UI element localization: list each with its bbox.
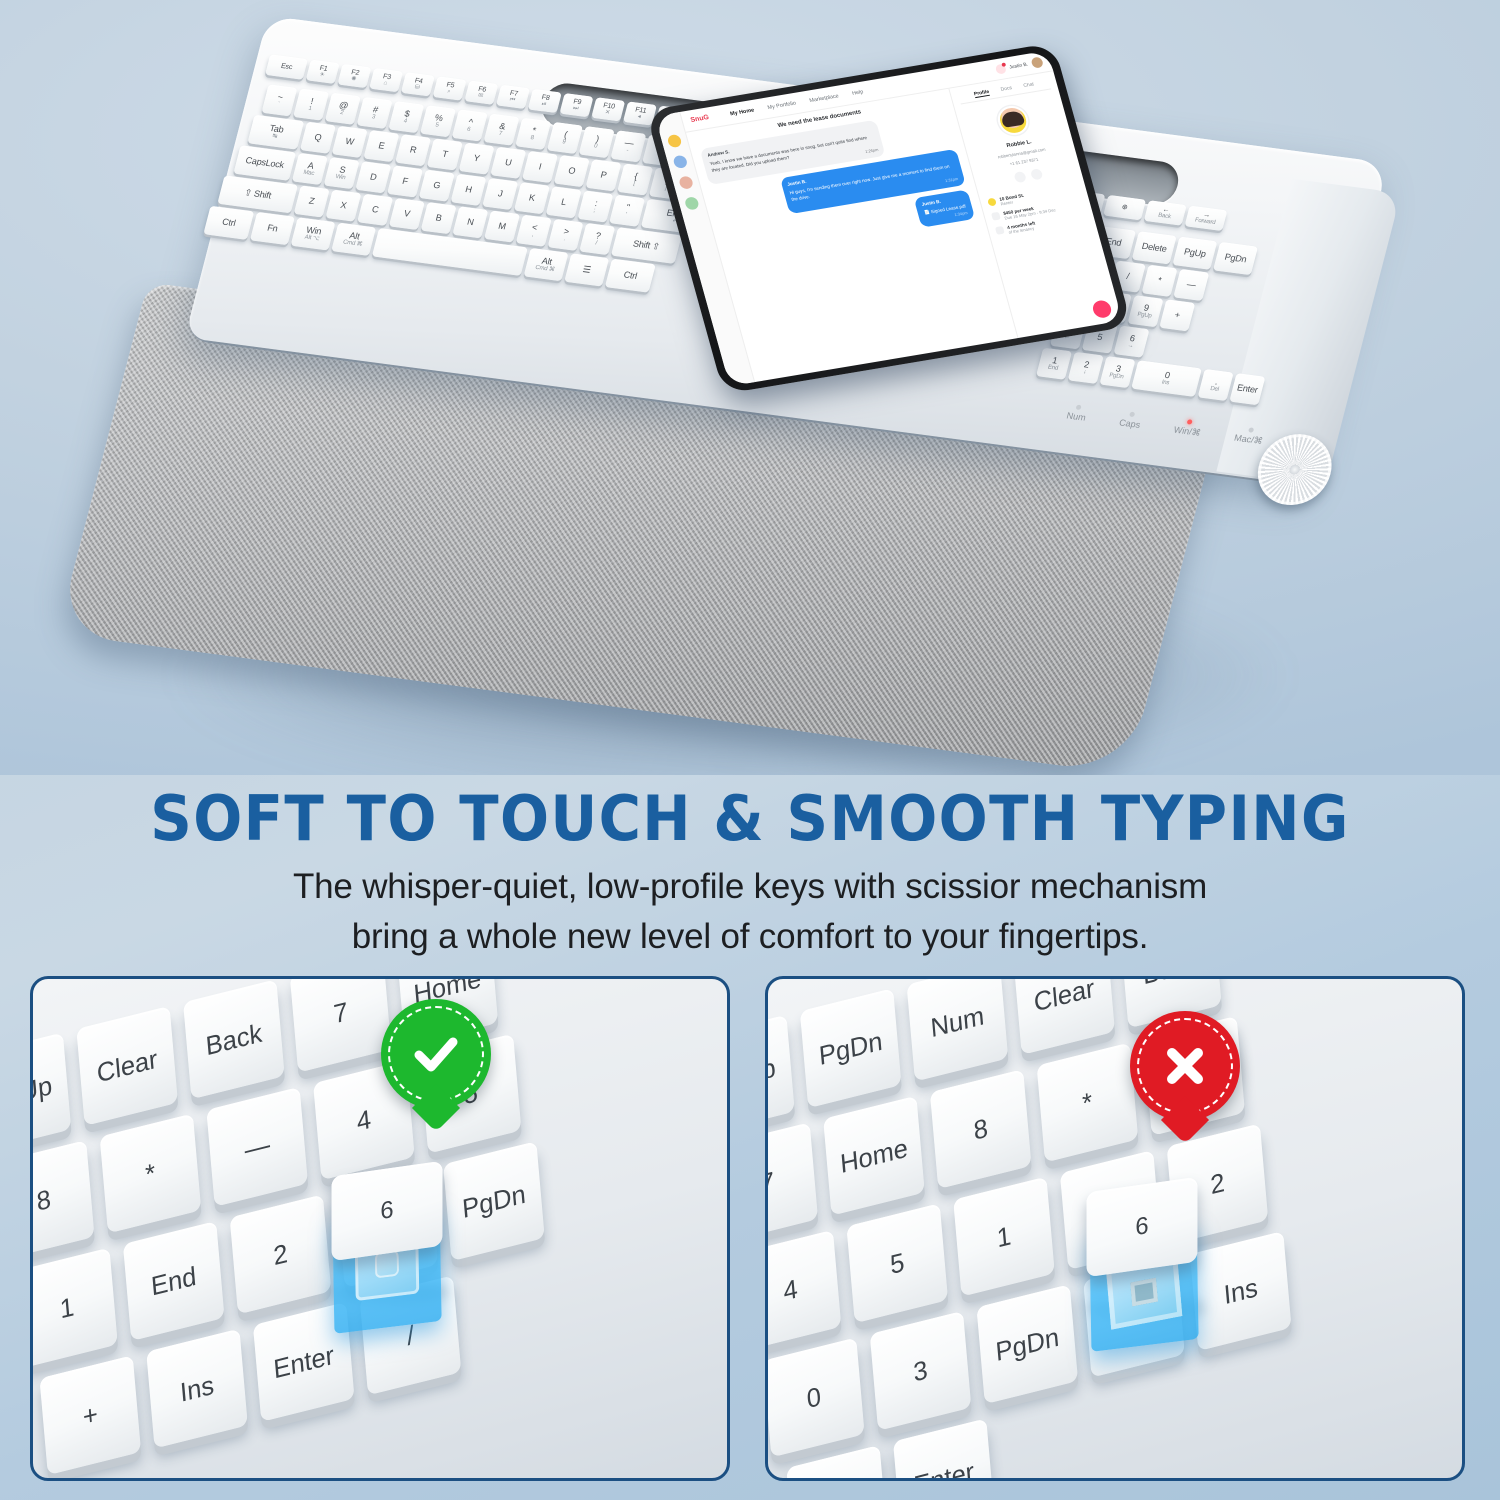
key-label: PgDn: [1224, 253, 1248, 265]
key-label: P: [599, 170, 607, 180]
key-sublabel: 7: [498, 131, 503, 138]
key-tab[interactable]: Tab↹: [247, 115, 304, 150]
key-sublabel: [: [632, 181, 635, 187]
closeup-key: Ins: [146, 1329, 248, 1449]
key-sublabel: Cmd ⌘: [534, 265, 555, 274]
key-label: X: [339, 201, 347, 211]
key-sublabel: →: [1127, 343, 1134, 350]
key-n[interactable]: N: [452, 206, 488, 238]
key-label: #: [372, 105, 379, 115]
key-sublabel: 3: [371, 114, 376, 121]
key-sublabel: 2: [339, 110, 344, 117]
closeup-key: 1: [953, 1177, 1055, 1297]
key-label: ☰: [582, 265, 592, 275]
closeup-key-label: Back: [205, 1018, 264, 1061]
key-3[interactable]: 3PgDn: [1099, 356, 1135, 388]
key--[interactable]: ⊕: [1103, 195, 1146, 220]
check-icon: [407, 1025, 465, 1083]
profile-name: Robbie L.: [1006, 139, 1032, 149]
key-label: {: [633, 172, 638, 182]
key--[interactable]: %5: [420, 105, 456, 137]
key--[interactable]: #3: [357, 97, 393, 129]
key-label: —: [1186, 280, 1197, 290]
call-icon[interactable]: [1013, 171, 1027, 183]
key-sublabel: ⌕: [446, 89, 451, 96]
key-sublabel: 4: [403, 118, 408, 125]
closeup-key: 5: [846, 1203, 948, 1323]
app-user-menu[interactable]: Justin B.: [994, 56, 1044, 74]
key-f8[interactable]: F8⏯: [528, 89, 562, 113]
key-label: 1: [1051, 356, 1058, 366]
key-label: 0: [1164, 371, 1171, 381]
nav-tab-marketplace[interactable]: Marketplace: [809, 93, 840, 104]
key-f10[interactable]: F10✕: [591, 97, 625, 121]
key-sublabel: ': [625, 212, 628, 218]
key-label: Y: [472, 154, 480, 164]
key-sublabel: ⛁: [414, 85, 420, 92]
key--[interactable]: *: [1141, 265, 1177, 297]
closeup-key-label: 5: [889, 1247, 906, 1279]
key-label: Esc: [280, 63, 293, 72]
verdict-badge-cross: [1130, 1011, 1240, 1139]
key--[interactable]: "': [609, 195, 645, 227]
page-subtitle: The whisper-quiet, low-profile keys with…: [150, 862, 1350, 961]
key-a[interactable]: AMac: [292, 153, 328, 185]
key--[interactable]: !1: [293, 89, 329, 121]
key-9[interactable]: 9PgUp: [1127, 295, 1163, 327]
key--[interactable]: ←Back: [1144, 200, 1187, 225]
key-label: J: [497, 189, 504, 199]
key-ctrl[interactable]: Ctrl: [605, 259, 656, 293]
key-shift-[interactable]: Shift ⇧: [611, 227, 682, 264]
numpad-row-4: 1End2↓3PgDn0Ins.DelEnter: [1036, 348, 1265, 406]
key-pgup[interactable]: PgUp: [1172, 237, 1217, 270]
key-sublabel: Cmd ⌘: [342, 240, 363, 249]
key--[interactable]: ?/: [579, 223, 615, 255]
key--[interactable]: ☰: [564, 253, 609, 286]
key-capslock[interactable]: CapsLock: [233, 145, 296, 181]
comparison-panel-bad: PgUpPgDnNumClearBack7Home8*—451End203PgD…: [765, 976, 1465, 1481]
verdict-badge-check: [381, 999, 491, 1127]
key-sublabel: ✕: [604, 110, 610, 117]
key-1[interactable]: 1End: [1036, 348, 1072, 380]
key-f6[interactable]: F6✉: [464, 81, 498, 105]
key-k[interactable]: K: [514, 182, 550, 214]
closeup-key-label: PgDn: [461, 1179, 527, 1224]
key-sublabel: Forward: [1194, 217, 1216, 226]
key-pgdn[interactable]: PgDn: [1213, 242, 1258, 275]
key--[interactable]: (9: [547, 122, 583, 154]
closeup-key: PgDn: [800, 988, 902, 1108]
close-icon: [1158, 1039, 1212, 1093]
phone-screen: SnuG My HomeMy PortfolioMarketplaceHelp …: [655, 50, 1123, 386]
key--[interactable]: >.: [547, 219, 583, 251]
key-ctrl[interactable]: Ctrl: [203, 206, 254, 240]
key-sublabel: .: [563, 236, 566, 242]
closeup-key-label: 1: [996, 1220, 1013, 1252]
key-sublabel: Alt ⌥: [304, 234, 320, 242]
key-label: N: [466, 217, 475, 227]
key-sublabel: /: [595, 240, 598, 246]
closeup-key-label: 4: [356, 1104, 373, 1136]
closeup-key: Home: [823, 1096, 925, 1216]
nav-tab-my-home[interactable]: My Home: [729, 107, 754, 117]
key--[interactable]: $4: [388, 101, 424, 133]
key-sublabel: Back: [1157, 213, 1171, 221]
closeup-key-label: +: [82, 1399, 99, 1432]
closeup-key-label: 2: [1209, 1167, 1226, 1199]
detail-meta: Renter: [1000, 200, 1014, 207]
closeup-key-label: Home: [839, 1133, 909, 1179]
closeup-key: PgUp: [768, 1015, 795, 1135]
key-p[interactable]: P: [585, 159, 621, 191]
key-label: PgUp: [1183, 247, 1207, 259]
key-sublabel: ⌂: [383, 80, 388, 87]
key-delete[interactable]: Delete: [1132, 231, 1177, 264]
key-label: V: [403, 209, 411, 219]
key-label: T: [441, 149, 449, 159]
key-label: Delete: [1141, 242, 1168, 254]
profile-actions: [1013, 168, 1043, 183]
key--[interactable]: )0: [579, 126, 615, 158]
closeup-key: +: [39, 1355, 141, 1475]
nav-tab-my-portfolio[interactable]: My Portfolio: [767, 100, 797, 110]
key-f3[interactable]: F3⌂: [369, 68, 403, 92]
key-label: K: [528, 193, 536, 203]
key-label: /: [1125, 272, 1130, 282]
key-label: (: [563, 130, 568, 140]
key-label: ^: [467, 118, 473, 128]
key-win[interactable]: WinAlt ⌥: [291, 217, 336, 250]
key-sublabel: 1: [308, 106, 313, 113]
avatar[interactable]: [1030, 56, 1044, 68]
key-sublabel: ⏮: [509, 97, 516, 104]
closeup-key-label: PgDn: [818, 1026, 884, 1071]
key-r[interactable]: R: [395, 134, 431, 166]
key-label: .: [1214, 377, 1219, 387]
closeup-key-label: Back: [1142, 979, 1201, 990]
key-label: E: [377, 141, 385, 151]
key-label: O: [567, 166, 576, 176]
key-y[interactable]: Y: [459, 143, 495, 175]
key-label: W: [344, 137, 355, 147]
key-sublabel: ✺: [350, 76, 356, 83]
closeup-key: 8: [33, 1140, 94, 1260]
key--[interactable]: @2: [325, 93, 361, 125]
detail-icon: [995, 226, 1005, 235]
key-fn[interactable]: Fn: [250, 212, 295, 245]
key-label: —: [624, 138, 635, 148]
key-label: Ctrl: [221, 217, 236, 228]
app-logo: SnuG: [690, 114, 710, 124]
key-label: ⇧ Shift: [243, 188, 272, 201]
profile-photo: [994, 104, 1031, 137]
key-sublabel: ⏯: [541, 101, 547, 108]
key-label: ): [595, 134, 600, 144]
key-sublabel: ☀: [318, 72, 325, 79]
key-sublabel: -: [626, 148, 629, 154]
profile-email: robbertylonna@gmail.com: [997, 147, 1046, 160]
closeup-key: PgDn: [443, 1141, 545, 1261]
rail-avatar-1[interactable]: [667, 134, 683, 148]
key-alt[interactable]: AltCmd ⌘: [524, 248, 569, 281]
key-label: Ctrl: [623, 270, 638, 281]
key--[interactable]: ~`: [261, 84, 297, 116]
key--[interactable]: .Del: [1198, 369, 1234, 401]
key-sublabel: 6: [466, 127, 471, 134]
closeup-key: 1: [33, 1248, 118, 1368]
closeup-key-label: 4: [782, 1274, 799, 1306]
detail-icon: [987, 198, 997, 207]
key-label: F: [401, 177, 409, 187]
key-f9[interactable]: F9⏭: [559, 93, 593, 117]
key-f2[interactable]: F2✺: [337, 64, 371, 88]
closeup-key: Clear: [76, 1006, 178, 1126]
key-z[interactable]: Z: [294, 185, 330, 217]
key-t[interactable]: T: [427, 138, 463, 170]
page-title: SOFT TO TOUCH & SMOOTH TYPING: [53, 782, 1448, 855]
key-e[interactable]: E: [363, 130, 399, 162]
key-label: Q: [313, 133, 322, 143]
key-label: :: [594, 199, 599, 209]
closeup-key-label: End: [150, 1261, 197, 1301]
mail-icon[interactable]: [1029, 168, 1043, 180]
key-c[interactable]: C: [357, 194, 393, 226]
key--[interactable]: →Forward: [1184, 206, 1227, 231]
key-label: G: [432, 181, 441, 191]
key-label: Fn: [266, 223, 278, 234]
closeup-key: 2: [230, 1194, 332, 1314]
closeup-key: 0: [768, 1337, 865, 1457]
key--[interactable]: :;: [577, 191, 613, 223]
closeup-key-label: 8: [972, 1113, 989, 1145]
closeup-key-label: 8: [35, 1184, 52, 1216]
key--[interactable]: *8: [515, 118, 551, 150]
key-label: ": [625, 203, 630, 213]
closeup-key-label: 3: [912, 1355, 929, 1387]
key--[interactable]: &7: [483, 114, 519, 146]
key-0[interactable]: 0Ins: [1131, 360, 1202, 397]
key-label: *: [1157, 276, 1163, 286]
closeup-key-label: *: [1081, 1087, 1093, 1118]
key-sublabel: ✉: [477, 93, 483, 100]
subtitle-line-1: The whisper-quiet, low-profile keys with…: [293, 867, 1207, 906]
closeup-key-label: Num: [929, 1000, 985, 1042]
key-f[interactable]: F: [387, 165, 423, 197]
key-sublabel: ;: [593, 208, 596, 214]
closeup-key: —: [206, 1087, 308, 1207]
key-label: Enter: [1236, 383, 1259, 395]
closeup-key-label: Ins: [179, 1370, 215, 1407]
key-label: *: [531, 126, 537, 136]
nav-tab-help[interactable]: Help: [851, 89, 864, 97]
key-label: Z: [308, 197, 316, 207]
closeup-key: End: [123, 1221, 225, 1341]
closeup-key-label: Enter: [272, 1340, 335, 1384]
key-sublabel: ↓: [1082, 369, 1086, 376]
key-i[interactable]: I: [522, 151, 558, 183]
key-sublabel: Mac: [303, 170, 315, 178]
key-sublabel: ,: [531, 232, 534, 238]
key-u[interactable]: U: [490, 147, 526, 179]
key-f7[interactable]: F7⏮: [496, 85, 530, 109]
detail-icon: [991, 212, 1001, 221]
key-2[interactable]: 2↓: [1068, 352, 1104, 384]
key--[interactable]: —-: [610, 130, 646, 162]
key-sublabel: `: [277, 102, 280, 108]
key-h[interactable]: H: [450, 174, 486, 206]
message-bubble: Justin B.📄 Signed Lease.pdf1:34pm: [914, 189, 975, 227]
key-label: L: [560, 197, 567, 207]
keycap-label: 6: [1135, 1212, 1148, 1242]
comparison-panel-good: PgUpClearBack7Home8*—451End23PgDn+InsEnt…: [30, 976, 730, 1481]
key-sublabel: PgDn: [1108, 373, 1124, 381]
closeup-key-label: PgUp: [33, 1070, 53, 1115]
app-main-column: SnuG My HomeMy PortfolioMarketplaceHelp …: [680, 50, 1122, 382]
key-o[interactable]: O: [554, 155, 590, 187]
keycap-label: 6: [380, 1196, 393, 1226]
closeup-key: 3: [870, 1311, 972, 1431]
closeup-key: *: [100, 1113, 202, 1233]
key-label: ⊕: [1121, 204, 1128, 212]
closeup-key-label: Enter: [912, 1456, 975, 1478]
key-v[interactable]: V: [389, 198, 425, 230]
key-j[interactable]: J: [482, 178, 518, 210]
key-sublabel: ⏭: [572, 105, 579, 112]
closeup-key-label: Clear: [1033, 979, 1096, 1017]
current-user-name: Justin B.: [1009, 61, 1029, 70]
key-f1[interactable]: F1☀: [306, 60, 340, 84]
floating-keycap: 6: [1087, 1177, 1198, 1277]
key-label: 5: [1096, 333, 1103, 343]
key-label: @: [338, 100, 349, 110]
subtitle-line-2: bring a whole new level of comfort to yo…: [352, 917, 1149, 956]
closeup-key-label: 1: [59, 1291, 76, 1323]
closeup-key: Enter: [893, 1418, 995, 1478]
sidebar-tab-docs[interactable]: Docs: [1000, 85, 1013, 93]
closeup-key: *: [1037, 1042, 1139, 1162]
key--[interactable]: {[: [617, 163, 653, 195]
key-sublabel: End: [1047, 365, 1059, 372]
key-label: B: [435, 213, 443, 223]
key-sublabel: PgUp: [1136, 312, 1152, 320]
key--[interactable]: <,: [516, 215, 552, 247]
key-sublabel: Win: [335, 174, 346, 181]
key-label: M: [497, 221, 507, 231]
key-q[interactable]: Q: [300, 122, 336, 154]
key-label: H: [464, 185, 473, 195]
key-g[interactable]: G: [419, 170, 455, 202]
key-label: C: [371, 205, 380, 215]
closeup-key: Clear: [1013, 979, 1115, 1055]
key-s[interactable]: SWin: [324, 157, 360, 189]
sidebar-tab-chat[interactable]: Chat: [1023, 82, 1035, 90]
closeup-key: Num: [907, 979, 1009, 1082]
key-6[interactable]: 6→: [1113, 326, 1149, 358]
closeup-key: Ins: [1190, 1231, 1292, 1351]
key--[interactable]: —: [1173, 269, 1209, 301]
key-sublabel: 8: [530, 135, 535, 142]
rail-avatar-3[interactable]: [678, 175, 694, 189]
profile-phone: +1 61 237 9371: [1009, 157, 1039, 166]
key--[interactable]: ^6: [452, 109, 488, 141]
key-label: I: [538, 162, 543, 172]
closeup-key-label: 0: [806, 1381, 823, 1413]
closeup-key-label: 2: [272, 1238, 289, 1270]
key-d[interactable]: D: [355, 161, 391, 193]
closeup-key: PgDn: [976, 1284, 1078, 1404]
rail-avatar-4[interactable]: [684, 196, 700, 210]
key-sublabel: 0: [593, 143, 598, 150]
key-label: D: [369, 172, 378, 182]
rail-avatar-2[interactable]: [672, 155, 688, 169]
key-sublabel: 9: [561, 139, 566, 146]
key-label: R: [409, 145, 418, 155]
closeup-key: 7: [768, 1122, 818, 1242]
key-w[interactable]: W: [332, 126, 368, 158]
key-label: +: [1174, 310, 1181, 320]
key-label: 6: [1129, 334, 1136, 344]
closeup-key: 8: [930, 1069, 1032, 1189]
notifications-icon[interactable]: [994, 63, 1006, 74]
key-label: !: [310, 97, 315, 107]
closeup-key: Back: [183, 979, 285, 1099]
key-sublabel: ◂: [637, 114, 641, 121]
closeup-key-label: Clear: [96, 1044, 159, 1088]
profile-detail-list: 10 Bond St.Renter$450 per weekDue 16 May…: [987, 184, 1088, 237]
key-f4[interactable]: F4⛁: [401, 72, 435, 96]
closeup-key-label: PgDn: [994, 1322, 1060, 1367]
closeup-key-label: 7: [768, 1166, 776, 1198]
closeup-key: 7: [290, 979, 392, 1073]
key-label: Shift ⇧: [632, 239, 661, 252]
key-x[interactable]: X: [325, 190, 361, 222]
hero-product-photo: Num Caps Win/⌘ Mac/⌘ EscF1☀F2✺F3⌂F4⛁F5⌕F…: [0, 0, 1500, 775]
closeup-key: 4: [768, 1230, 841, 1350]
key-sublabel: ↹: [271, 133, 277, 140]
closeup-key-label: Ins: [1223, 1272, 1259, 1309]
closeup-key-label: *: [144, 1158, 156, 1189]
key-f5[interactable]: F5⌕: [433, 76, 467, 100]
key-label: CapsLock: [245, 156, 285, 170]
key-sublabel: Del: [1209, 386, 1219, 393]
key-label: U: [504, 158, 513, 168]
closeup-key: PgUp: [33, 1032, 71, 1152]
key-sublabel: Ins: [1161, 380, 1170, 387]
key-m[interactable]: M: [484, 210, 520, 242]
closeup-key-label: —: [243, 1129, 271, 1164]
floating-keycap: 6: [332, 1161, 443, 1261]
closeup-key-label: 7: [332, 996, 349, 1028]
closeup-key-label: PgUp: [768, 1052, 777, 1097]
key-l[interactable]: L: [546, 186, 582, 218]
sidebar-tab-profile[interactable]: Profile: [973, 89, 990, 98]
key-sublabel: 5: [434, 123, 439, 130]
key-b[interactable]: B: [421, 202, 457, 234]
key-alt[interactable]: AltCmd ⌘: [331, 223, 376, 256]
key--[interactable]: +: [1159, 299, 1195, 331]
keyboard-assembly: Num Caps Win/⌘ Mac/⌘ EscF1☀F2✺F3⌂F4⛁F5⌕F…: [120, 60, 1350, 760]
